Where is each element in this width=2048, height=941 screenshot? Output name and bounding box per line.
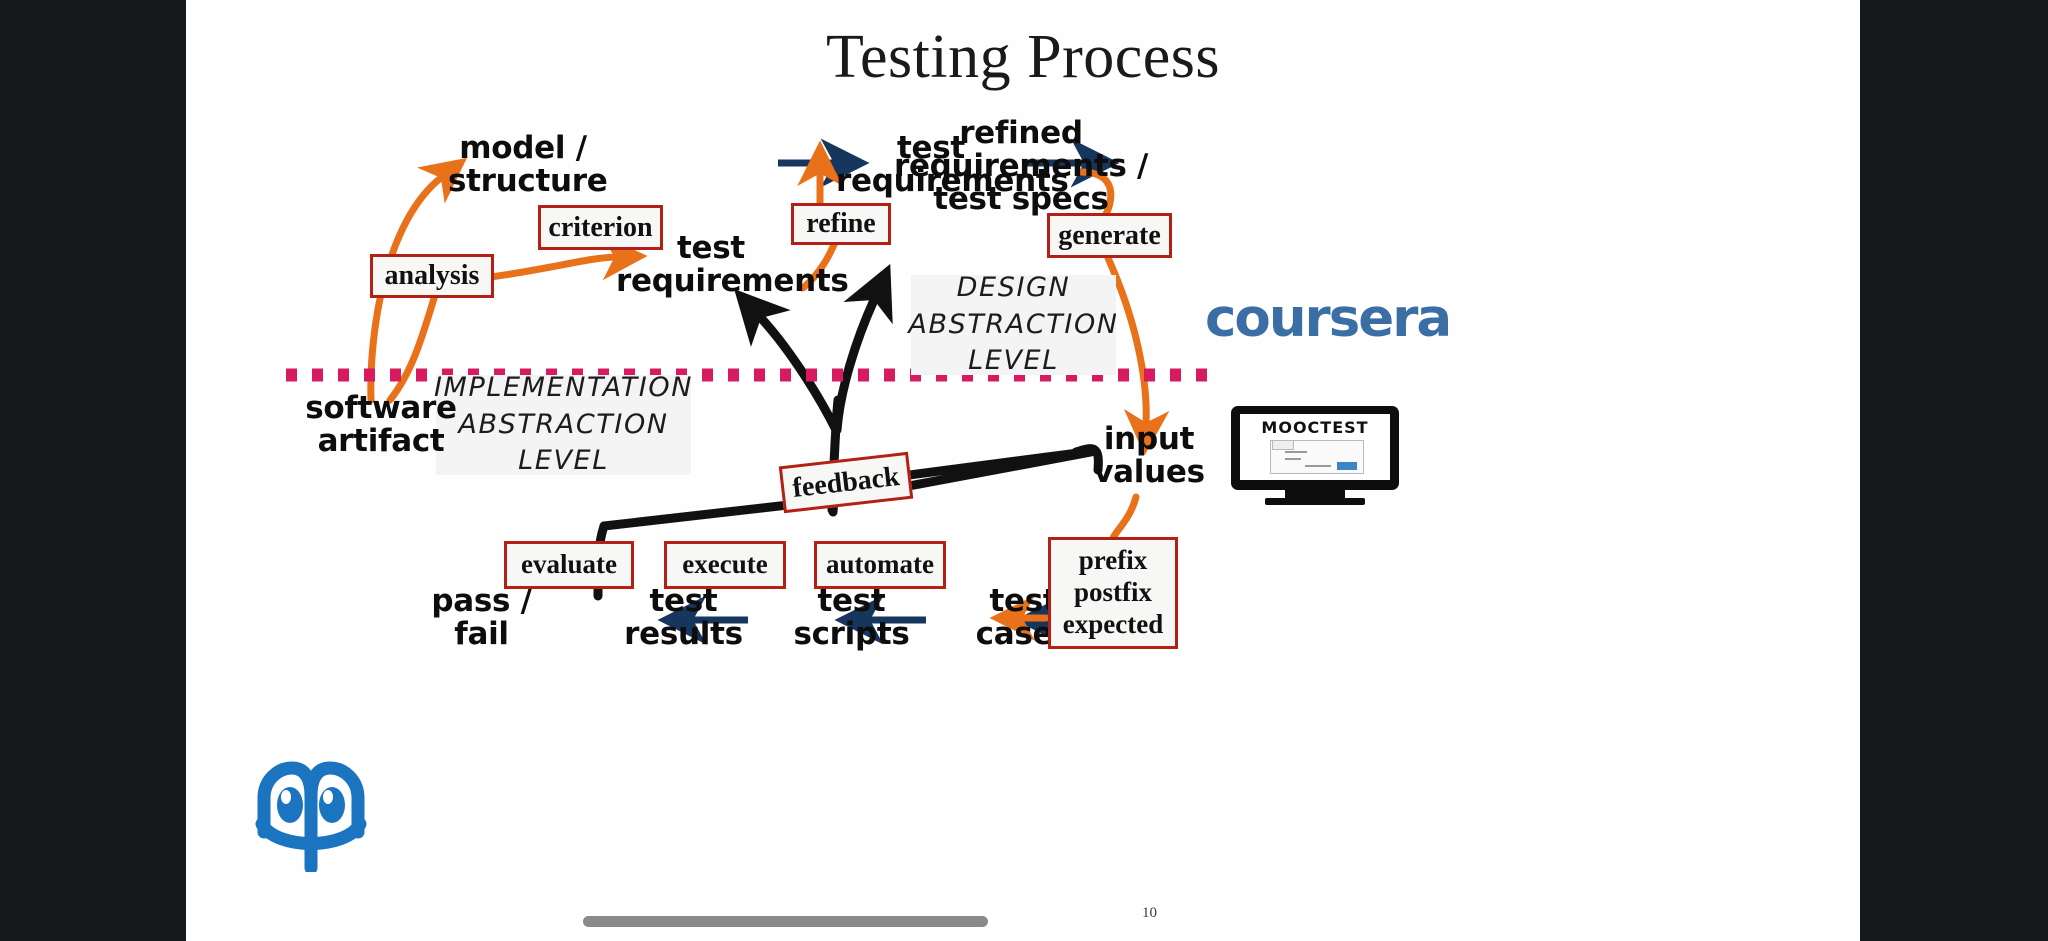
mooctest-logo: MOOCTEST — [1240, 418, 1390, 437]
box-prefix-postfix-expected[interactable]: prefix postfix expected — [1048, 537, 1178, 649]
mooctest-monitor-graphic: MOOCTEST — [1231, 406, 1399, 504]
dialog-line-3 — [1305, 465, 1331, 467]
label-refined-requirements: refined requirements / test specs — [871, 117, 1171, 216]
box-evaluate[interactable]: evaluate — [504, 541, 634, 589]
plaque-design-abstraction-level: DESIGN ABSTRACTION LEVEL — [911, 275, 1116, 375]
video-progress-scrollbar[interactable] — [583, 916, 988, 927]
label-software-artifact: software artifact — [296, 392, 466, 458]
owl-pupil-right — [323, 790, 333, 804]
owl-pupil-left — [281, 790, 291, 804]
coursera-logo: coursera — [1205, 288, 1450, 349]
dialog-submit-button — [1337, 462, 1357, 470]
owl-eye-left — [277, 787, 303, 823]
label-model-structure: model / structure — [448, 132, 598, 198]
owl-eye-right — [319, 787, 345, 823]
label-pass-fail: pass / fail — [414, 585, 549, 651]
dialog-line-1 — [1285, 451, 1307, 453]
label-test-results: test results — [611, 585, 756, 651]
plaque-implementation-abstraction-level: IMPLEMENTATION ABSTRACTION LEVEL — [436, 375, 691, 475]
slide-canvas: Testing Process — [186, 0, 1860, 941]
box-analysis[interactable]: analysis — [370, 254, 494, 298]
video-player-stage: Testing Process — [0, 0, 2048, 941]
slide-page-number: 10 — [1142, 905, 1157, 922]
monitor-screen: MOOCTEST — [1240, 414, 1390, 480]
dialog-line-2 — [1285, 458, 1301, 460]
dialog-tab — [1272, 440, 1294, 450]
label-input-values: input values — [1084, 423, 1214, 489]
box-automate[interactable]: automate — [814, 541, 946, 589]
label-test-scripts: test scripts — [779, 585, 924, 651]
box-execute[interactable]: execute — [664, 541, 786, 589]
owl-mascot-logo — [252, 750, 370, 872]
box-criterion[interactable]: criterion — [538, 205, 663, 250]
box-generate[interactable]: generate — [1047, 213, 1172, 258]
monitor-dialog — [1270, 440, 1364, 474]
box-refine[interactable]: refine — [791, 203, 891, 245]
monitor-base — [1265, 498, 1365, 505]
